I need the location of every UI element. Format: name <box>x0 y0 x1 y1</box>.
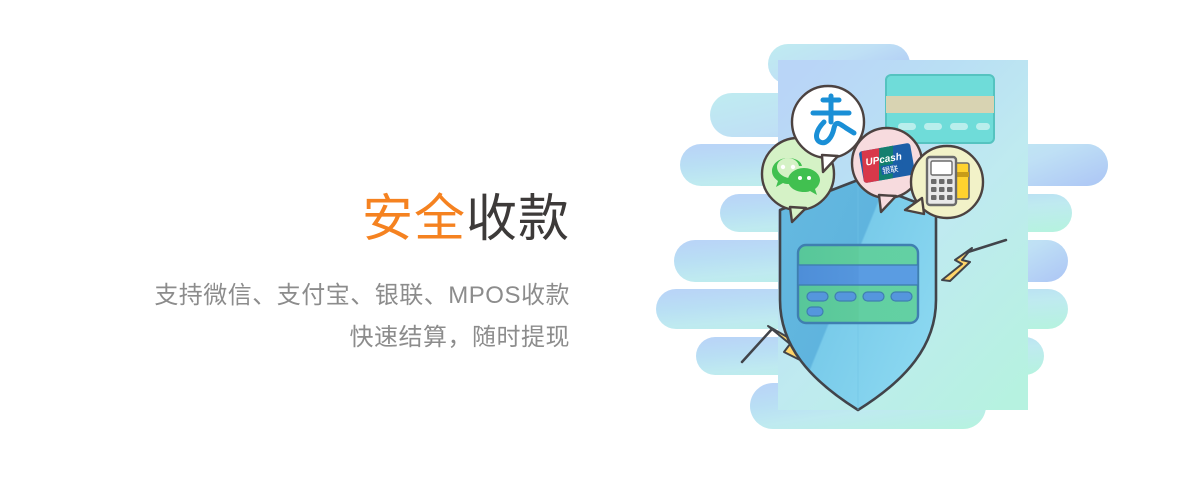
shield-credit-card <box>798 245 918 323</box>
page-title: 安全收款 <box>100 190 570 249</box>
banner-copy: 安全收款 支持微信、支付宝、银联、MPOS收款 快速结算，随时提现 <box>100 190 570 359</box>
page-title-rest: 收款 <box>466 190 570 247</box>
pos-terminal-icon <box>927 157 969 205</box>
subtitle-line-1: 支持微信、支付宝、银联、MPOS收款 <box>100 275 570 317</box>
subtitle-line-2: 快速结算，随时提现 <box>100 317 570 359</box>
promo-banner: 安全收款 支持微信、支付宝、银联、MPOS收款 快速结算，随时提现 <box>0 0 1200 479</box>
secure-payment-illustration: UPcash 银联 <box>650 0 1200 479</box>
page-title-accent: 安全 <box>362 190 466 247</box>
